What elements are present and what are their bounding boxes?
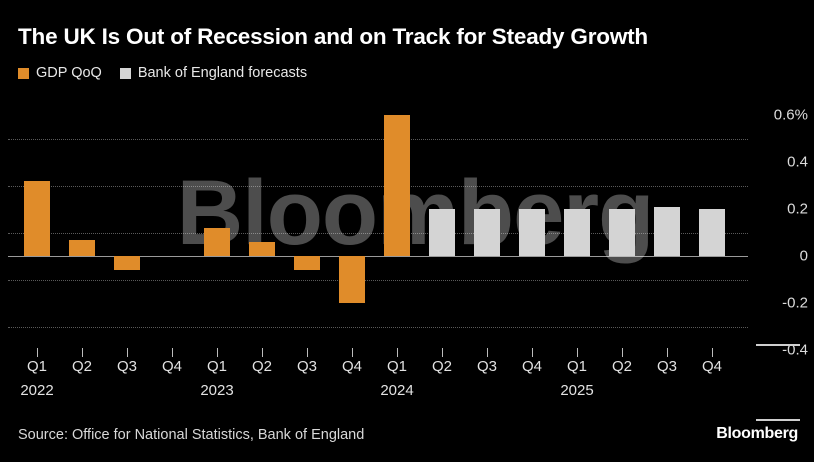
bar-q2-2024 (429, 209, 455, 256)
bar-q3-2025 (654, 207, 680, 256)
bar-q2-2022 (69, 240, 95, 256)
bar-q3-2024 (474, 209, 500, 256)
bar-q4-2025 (699, 209, 725, 256)
bar-q4-2024 (519, 209, 545, 256)
bar-q1-2022 (24, 181, 50, 256)
bar-q1-2023 (204, 228, 230, 256)
bar-q3-2022 (114, 256, 140, 270)
bar-series-layer (0, 0, 814, 462)
bar-q2-2023 (249, 242, 275, 256)
bloomberg-chart: The UK Is Out of Recession and on Track … (0, 0, 814, 462)
bar-q4-2023 (339, 256, 365, 303)
bar-q2-2025 (609, 209, 635, 256)
bar-q3-2023 (294, 256, 320, 270)
bar-q1-2025 (564, 209, 590, 256)
bar-q1-2024 (384, 115, 410, 256)
